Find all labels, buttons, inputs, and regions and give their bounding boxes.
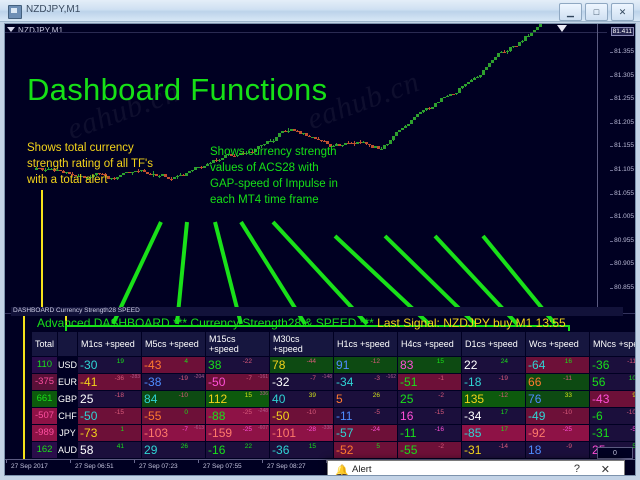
strength-cell: -103-7-613 bbox=[142, 425, 206, 442]
candle-body bbox=[185, 173, 188, 176]
strength-value: 25 bbox=[80, 391, 93, 407]
strength-value: 56 bbox=[592, 374, 605, 390]
speed-value: -36 bbox=[115, 375, 124, 382]
candle-body bbox=[341, 145, 344, 147]
speed-value: 17 bbox=[501, 409, 508, 416]
strength-value: 66 bbox=[528, 374, 541, 390]
gap-value: -248 bbox=[258, 408, 268, 414]
speed-value: -10 bbox=[563, 409, 572, 416]
speed-value: -18 bbox=[115, 392, 124, 399]
chart-marker-icon bbox=[557, 25, 567, 32]
currency-label: USD bbox=[58, 357, 77, 373]
price-tick: 81.355 bbox=[614, 48, 634, 55]
strength-value: -50 bbox=[272, 408, 289, 424]
strength-cell: -31-14 bbox=[462, 442, 526, 459]
strength-cell: -34-3-162 bbox=[334, 374, 398, 391]
candle-body bbox=[431, 107, 434, 109]
strength-cell: 2224 bbox=[462, 357, 526, 374]
speed-value: -5 bbox=[374, 409, 380, 416]
close-icon: ✕ bbox=[619, 7, 627, 18]
strength-cell: 4039 bbox=[270, 391, 334, 408]
strength-value: 25 bbox=[400, 391, 413, 407]
speed-value: -7 bbox=[182, 426, 188, 433]
strength-value: -18 bbox=[464, 374, 481, 390]
strength-value: 112 bbox=[208, 391, 227, 407]
candle-body bbox=[203, 166, 206, 168]
strength-value: -34 bbox=[336, 374, 353, 390]
candle-body bbox=[479, 75, 482, 78]
speed-value: -25 bbox=[563, 426, 572, 433]
price-tick: 81.205 bbox=[614, 119, 634, 126]
gap-value: -204 bbox=[194, 374, 204, 380]
total-cell: -989 bbox=[32, 425, 58, 442]
strength-value: -43 bbox=[144, 357, 161, 373]
annotation-yellow-pointer bbox=[41, 190, 43, 312]
speed-value: 39 bbox=[309, 392, 316, 399]
strength-cell: -11-16 bbox=[398, 425, 462, 442]
total-cell: 661 bbox=[32, 391, 58, 408]
candle-body bbox=[176, 176, 179, 178]
candle-body bbox=[392, 136, 395, 140]
strength-value: -31 bbox=[592, 425, 609, 441]
currency-cell: GBP bbox=[58, 391, 78, 408]
strength-cell: -731 bbox=[78, 425, 142, 442]
speed-value: 4 bbox=[184, 358, 188, 365]
strength-value: 84 bbox=[144, 391, 157, 407]
gap-value: -613 bbox=[194, 425, 204, 431]
column-header: H4cs +speed bbox=[398, 332, 462, 357]
window-title: NZDJPY,M1 bbox=[26, 4, 80, 15]
speed-value: 1 bbox=[120, 426, 124, 433]
gap-value: -162 bbox=[386, 374, 396, 380]
strength-cell: 2323 bbox=[334, 476, 398, 477]
candle-body bbox=[521, 41, 524, 42]
candle-body bbox=[524, 36, 527, 40]
strength-value: -88 bbox=[208, 408, 225, 424]
speed-value: -9 bbox=[566, 443, 572, 450]
candle-body bbox=[440, 98, 443, 101]
currency-cell: USD bbox=[58, 357, 78, 374]
candle-body bbox=[434, 103, 437, 107]
candle-body bbox=[188, 171, 191, 172]
strength-cell: -55-2 bbox=[398, 442, 462, 459]
strength-value: -55 bbox=[400, 442, 417, 458]
maximize-button[interactable]: □ bbox=[585, 3, 608, 21]
candle-body bbox=[383, 145, 386, 149]
strength-cell: -3417 bbox=[462, 408, 526, 425]
strength-cell: 91-12 bbox=[334, 357, 398, 374]
candle-body bbox=[491, 60, 494, 63]
chart-symbol-tab[interactable]: NZDJPY,M1 bbox=[7, 26, 63, 35]
column-header: M15cs +speed bbox=[206, 332, 270, 357]
strength-value: -64 bbox=[528, 357, 545, 373]
strength-value: -52 bbox=[336, 442, 353, 458]
column-header: Wcs +speed bbox=[526, 332, 590, 357]
strength-value: -159 bbox=[208, 425, 232, 441]
speed-value: -7 bbox=[310, 375, 316, 382]
speed-value: -28 bbox=[307, 426, 316, 433]
strength-cell: 25-2 bbox=[398, 391, 462, 408]
alert-window[interactable]: 🔔 Alert ? ✕ 🔔 DASH_CS28 bullish NZD poss… bbox=[327, 460, 625, 476]
speed-value: -19 bbox=[499, 375, 508, 382]
candle-body bbox=[467, 82, 470, 85]
total-cell: 110 bbox=[32, 357, 58, 374]
total-value: -507 bbox=[32, 408, 57, 424]
speed-value: -15 bbox=[115, 409, 124, 416]
help-icon[interactable]: ? bbox=[574, 463, 580, 475]
strength-cell: -11-5 bbox=[334, 408, 398, 425]
strength-value: -101 bbox=[272, 425, 296, 441]
strength-value: -103 bbox=[144, 425, 168, 441]
last-price-line bbox=[5, 32, 607, 33]
strength-cell: -50-15 bbox=[78, 408, 142, 425]
strength-cell: 135-12 bbox=[462, 391, 526, 408]
candle-body bbox=[461, 86, 464, 88]
currency-label: EUR bbox=[58, 374, 77, 390]
column-header: H1cs +speed bbox=[334, 332, 398, 357]
strength-cell: 18-9 bbox=[526, 442, 590, 459]
speed-value: -14 bbox=[499, 443, 508, 450]
speed-value: -2 bbox=[438, 443, 444, 450]
speed-value: 9 bbox=[632, 392, 636, 399]
candle-body bbox=[476, 77, 479, 78]
strength-value: -11 bbox=[336, 408, 352, 424]
strength-cell: 78-44 bbox=[270, 357, 334, 374]
strength-value: -11 bbox=[400, 425, 416, 441]
close-button[interactable]: ✕ bbox=[611, 3, 634, 21]
candle-body bbox=[158, 176, 161, 177]
total-value: 162 bbox=[32, 442, 57, 458]
strength-cell: 84-10 bbox=[142, 391, 206, 408]
candle-body bbox=[413, 117, 416, 120]
column-header: D1cs +speed bbox=[462, 332, 526, 357]
candle-body bbox=[272, 141, 275, 142]
time-tick: 27 Sep 08:27 bbox=[267, 463, 306, 470]
strength-value: 76 bbox=[528, 391, 541, 407]
strength-cell: -19-25 bbox=[462, 476, 526, 477]
strength-value: -30 bbox=[80, 357, 97, 373]
dashboard-header: Advanced DASHBOARD *** Currency Strength… bbox=[37, 316, 566, 330]
gap-value: 336 bbox=[260, 391, 268, 397]
scale-toggle-button[interactable]: 0 bbox=[597, 447, 633, 459]
time-tick: 27 Sep 07:55 bbox=[203, 463, 242, 470]
total-value: 110 bbox=[32, 357, 57, 373]
total-cell: -507 bbox=[32, 408, 58, 425]
candle-body bbox=[404, 126, 407, 127]
strength-cell: -434 bbox=[142, 357, 206, 374]
strength-cell: 11215336 bbox=[206, 391, 270, 408]
strength-cell: 25-18 bbox=[78, 391, 142, 408]
speed-value: 15 bbox=[437, 358, 444, 365]
speed-value: -25 bbox=[243, 409, 252, 416]
speed-value: -25 bbox=[243, 426, 252, 433]
table-row: 603NZD95043211945371623848984272323-3122… bbox=[32, 476, 637, 477]
price-tick: 81.005 bbox=[614, 213, 634, 220]
strength-cell: -18-19 bbox=[462, 374, 526, 391]
speed-value: -12 bbox=[371, 358, 380, 365]
strength-value: 16 bbox=[400, 408, 413, 424]
total-value: -375 bbox=[32, 374, 57, 390]
candle-body bbox=[464, 84, 467, 86]
speed-value: 5 bbox=[376, 443, 380, 450]
speed-value: 15 bbox=[245, 392, 252, 399]
strength-cell: 1194537 bbox=[142, 476, 206, 477]
gap-value: -283 bbox=[130, 374, 140, 380]
price-tick: 80.855 bbox=[614, 284, 634, 291]
strength-value: -16 bbox=[208, 442, 225, 458]
strength-cell: -525 bbox=[334, 442, 398, 459]
chart-symbol-label: NZDJPY,M1 bbox=[18, 26, 63, 35]
strength-cell: -6416 bbox=[526, 357, 590, 374]
strength-value: 83 bbox=[400, 357, 413, 373]
candle-body bbox=[446, 96, 449, 97]
strength-cell: -8517 bbox=[462, 425, 526, 442]
price-tick: 81.155 bbox=[614, 142, 634, 149]
speed-value: -22 bbox=[243, 358, 252, 365]
strength-cell: 38-22 bbox=[206, 357, 270, 374]
price-tick: 81.255 bbox=[614, 95, 634, 102]
strength-cell: 7633 bbox=[526, 391, 590, 408]
dashboard-caption: DASHBOARD Currency Strength28 SPEED bbox=[11, 307, 623, 316]
column-header: Total bbox=[32, 332, 58, 357]
column-header: MNcs +speed bbox=[590, 332, 636, 357]
candle-body bbox=[407, 124, 410, 127]
speed-value: -1 bbox=[438, 375, 444, 382]
currency-cell: CHF bbox=[58, 408, 78, 425]
strength-value: -32 bbox=[272, 374, 289, 390]
strength-cell: 16-15 bbox=[398, 408, 462, 425]
strength-value: 5 bbox=[336, 391, 343, 407]
candle-body bbox=[386, 144, 389, 145]
candle-body bbox=[539, 24, 542, 27]
annotation-currency-strength: Shows currency strength values of ACS28 … bbox=[210, 144, 338, 208]
speed-value: 17 bbox=[501, 426, 508, 433]
maximize-icon: □ bbox=[594, 7, 599, 17]
total-value: -989 bbox=[32, 425, 57, 441]
strength-cell: -36-11 bbox=[590, 357, 636, 374]
strength-cell: -101-28-338 bbox=[270, 425, 334, 442]
strength-value: 40 bbox=[272, 391, 285, 407]
strength-cell: 66-11 bbox=[526, 374, 590, 391]
strength-cell: -1622 bbox=[206, 442, 270, 459]
candle-body bbox=[191, 170, 194, 172]
strength-cell: -550 bbox=[142, 408, 206, 425]
total-cell: -375 bbox=[32, 374, 58, 391]
candle-body bbox=[173, 177, 176, 179]
speed-value: -10 bbox=[307, 409, 316, 416]
candle-body bbox=[395, 132, 398, 136]
price-scale[interactable]: 81.411 81.35581.30581.25581.20581.15581.… bbox=[597, 24, 635, 314]
candle-body bbox=[398, 130, 401, 132]
table-row: 110USD-3019-43438-2278-4491-1283152224-6… bbox=[32, 357, 637, 374]
strength-cell: 5841 bbox=[78, 442, 142, 459]
strength-value: 58 bbox=[80, 442, 93, 458]
total-cell: 162 bbox=[32, 442, 58, 459]
table-header-row: TotalM1cs +speedM5cs +speedM15cs +speedM… bbox=[32, 332, 637, 357]
chart-client-area: eahub.cn eahub.cn eahub.cn eahub.cn NZDJ… bbox=[4, 23, 636, 476]
gap-value: -338 bbox=[322, 425, 332, 431]
mt4-window: NZDJPY,M1 ▁ □ ✕ eahub.cn eahub.cn eahub.… bbox=[0, 0, 640, 480]
strength-cell: -3122 bbox=[398, 476, 462, 477]
minimize-button[interactable]: ▁ bbox=[559, 3, 582, 21]
window-controls[interactable]: ▁ □ ✕ bbox=[559, 3, 634, 21]
strength-value: 29 bbox=[144, 442, 157, 458]
speed-value: -11 bbox=[627, 358, 636, 365]
strength-cell: -3615 bbox=[270, 442, 334, 459]
strength-value: 78 bbox=[272, 357, 285, 373]
total-cell: 603 bbox=[32, 476, 58, 477]
strength-value: -49 bbox=[528, 408, 545, 424]
strength-value: -36 bbox=[592, 357, 609, 373]
annotation-total-strength: Shows total currency strength rating of … bbox=[27, 140, 153, 188]
strength-cell: -3019 bbox=[78, 357, 142, 374]
candle-body bbox=[527, 36, 530, 37]
speed-value: 22 bbox=[245, 443, 252, 450]
speed-value: 19 bbox=[117, 358, 124, 365]
candle-body bbox=[437, 102, 440, 103]
price-tick: 80.905 bbox=[614, 260, 634, 267]
strength-value: -85 bbox=[464, 425, 481, 441]
strength-value: -31 bbox=[464, 442, 481, 458]
speed-value: -5 bbox=[630, 426, 636, 433]
speed-value: -7 bbox=[246, 375, 252, 382]
candle-body bbox=[410, 120, 413, 124]
strength-cell: -32-7-148 bbox=[270, 374, 334, 391]
dashboard-header-right: Last Signal: NZDJPY buy M1 13:55 bbox=[377, 316, 566, 330]
candle-body bbox=[506, 51, 509, 52]
speed-value: -10 bbox=[179, 392, 188, 399]
time-tick: 27 Sep 06:51 bbox=[75, 463, 114, 470]
speed-value: -3 bbox=[374, 375, 380, 382]
strength-cell: 8427 bbox=[270, 476, 334, 477]
candle-body bbox=[488, 63, 491, 67]
strength-value: 38 bbox=[208, 357, 221, 373]
price-tick: 81.105 bbox=[614, 166, 634, 173]
strength-value: -41 bbox=[80, 374, 97, 390]
strength-value: -55 bbox=[144, 408, 161, 424]
strength-value: 91 bbox=[336, 357, 349, 373]
strength-value: -38 bbox=[144, 374, 161, 390]
table-row: 162AUD58412926-1622-3615-525-55-2-31-141… bbox=[32, 442, 637, 459]
column-header: M5cs +speed bbox=[142, 332, 206, 357]
close-icon[interactable]: ✕ bbox=[601, 463, 610, 476]
candle-body bbox=[470, 80, 473, 82]
page-title: Dashboard Functions bbox=[27, 72, 327, 108]
speed-value: -24 bbox=[371, 426, 380, 433]
table-row: 661GBP25-1884-1011215336403952625-2135-1… bbox=[32, 391, 637, 408]
time-tick: 27 Sep 2017 bbox=[11, 463, 48, 470]
currency-label: CHF bbox=[58, 408, 77, 424]
candle-body bbox=[419, 112, 422, 114]
candle-body bbox=[518, 42, 521, 46]
candle-body bbox=[515, 46, 518, 47]
candle-wick bbox=[426, 110, 427, 111]
strength-value: -92 bbox=[528, 425, 545, 441]
strength-cell: 526 bbox=[334, 391, 398, 408]
candle-body bbox=[278, 133, 281, 136]
strength-cell: 950432 bbox=[78, 476, 142, 477]
speed-value: 26 bbox=[373, 392, 380, 399]
price-tick: 80.955 bbox=[614, 237, 634, 244]
speed-value: -10 bbox=[627, 409, 636, 416]
column-header bbox=[58, 332, 78, 357]
strength-cell: -3-18 bbox=[590, 476, 636, 477]
strength-value: -34 bbox=[464, 408, 481, 424]
candle-body bbox=[485, 67, 488, 71]
table-row: -507CHF-50-15-550-88-25-248-50-10-11-516… bbox=[32, 408, 637, 425]
price-tick: 81.055 bbox=[614, 190, 634, 197]
candle-body bbox=[536, 27, 539, 29]
speed-value: -15 bbox=[435, 409, 444, 416]
dashboard-panel: DASHBOARD Currency Strength28 SPEED Adva… bbox=[11, 307, 623, 476]
candle-body bbox=[206, 164, 209, 166]
currency-label: AUD bbox=[58, 442, 77, 458]
strength-value: 22 bbox=[464, 357, 477, 373]
currency-cell: JPY bbox=[58, 425, 78, 442]
strength-cell: -41-36-283 bbox=[78, 374, 142, 391]
strength-cell: -88-25-248 bbox=[206, 408, 270, 425]
strength-cell: -92-25 bbox=[526, 425, 590, 442]
app-icon bbox=[8, 5, 22, 19]
time-tick: 27 Sep 07:23 bbox=[139, 463, 178, 470]
candle-body bbox=[494, 57, 497, 60]
strength-cell: 5610 bbox=[590, 374, 636, 391]
currency-label: JPY bbox=[58, 425, 77, 441]
strength-value: -73 bbox=[80, 425, 97, 441]
candle-body bbox=[275, 137, 278, 141]
strength-cell: 16238489 bbox=[206, 476, 270, 477]
total-value: 661 bbox=[32, 391, 57, 407]
price-tick: 81.305 bbox=[614, 72, 634, 79]
gap-value: -148 bbox=[322, 374, 332, 380]
currency-cell: EUR bbox=[58, 374, 78, 391]
strength-value: -57 bbox=[336, 425, 353, 441]
strength-value: -6 bbox=[592, 408, 603, 424]
strength-cell: -51-1 bbox=[398, 374, 462, 391]
strength-cell: -6-10 bbox=[590, 408, 636, 425]
speed-value: -44 bbox=[307, 358, 316, 365]
candle-body bbox=[401, 128, 404, 130]
speed-value: 24 bbox=[501, 358, 508, 365]
column-header: M30cs +speed bbox=[270, 332, 334, 357]
candle-body bbox=[422, 110, 425, 112]
candle-body bbox=[380, 149, 383, 150]
gap-value: -607 bbox=[258, 425, 268, 431]
strength-cell: -49-10 bbox=[526, 408, 590, 425]
speed-value: -16 bbox=[435, 426, 444, 433]
strength-value: -50 bbox=[80, 408, 97, 424]
speed-value: 16 bbox=[565, 358, 572, 365]
strength-value: -43 bbox=[592, 391, 609, 407]
candle-body bbox=[482, 70, 485, 74]
gap-value: -161 bbox=[258, 374, 268, 380]
strength-cell: 2926 bbox=[142, 442, 206, 459]
candle-body bbox=[287, 131, 290, 132]
column-header: M1cs +speed bbox=[78, 332, 142, 357]
table-row: -375EUR-41-36-283-38-19-204-50-7-161-32-… bbox=[32, 374, 637, 391]
candle-body bbox=[458, 88, 461, 93]
currency-label: GBP bbox=[58, 391, 77, 407]
strength-cell: -31-5 bbox=[590, 425, 636, 442]
speed-value: -19 bbox=[179, 375, 188, 382]
strength-value: -51 bbox=[400, 374, 417, 390]
bell-icon: 🔔 bbox=[335, 464, 349, 476]
alert-title-bar: 🔔 Alert ? ✕ bbox=[328, 461, 624, 476]
speed-value: 33 bbox=[565, 392, 572, 399]
speed-value: -11 bbox=[563, 375, 572, 382]
strength-cell: -439 bbox=[590, 391, 636, 408]
strength-cell: -38-19-204 bbox=[142, 374, 206, 391]
